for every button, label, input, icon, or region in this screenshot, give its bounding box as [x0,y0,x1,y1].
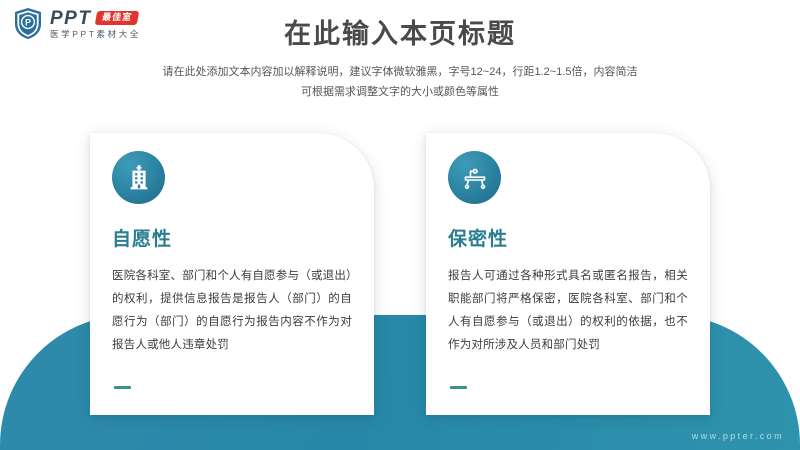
hospital-building-icon [112,151,165,204]
card-container: 自愿性 医院各科室、部门和个人有自愿参与（或退出）的权利，提供信息报告是报告人（… [90,133,710,415]
footer-url: www.ppter.com [692,431,784,441]
card-accent-dash [114,386,131,389]
card-title: 保密性 [448,230,688,251]
card-voluntariness[interactable]: 自愿性 医院各科室、部门和个人有自愿参与（或退出）的权利，提供信息报告是报告人（… [90,133,374,415]
page-subtitle: 请在此处添加文本内容加以解释说明，建议字体微软雅黑，字号12~24，行距1.2~… [0,62,800,103]
hospital-stretcher-icon [448,151,501,204]
card-confidentiality[interactable]: 保密性 报告人可通过各种形式具名或匿名报告，相关职能部门将严格保密，医院各科室、… [426,133,710,415]
card-body: 报告人可通过各种形式具名或匿名报告，相关职能部门将严格保密，医院各科室、部门和个… [448,265,688,357]
page-title: 在此输入本页标题 [0,18,800,50]
subtitle-line-2: 可根据需求调整文字的大小或颜色等属性 [0,82,800,102]
slide-canvas: www.ppter.com P PPT 最佳室 医学PPT素材大全 在此输入本页… [0,0,800,450]
subtitle-line-1: 请在此处添加文本内容加以解释说明，建议字体微软雅黑，字号12~24，行距1.2~… [0,62,800,82]
card-body: 医院各科室、部门和个人有自愿参与（或退出）的权利，提供信息报告是报告人（部门）的… [112,265,352,357]
card-accent-dash [450,386,467,389]
card-title: 自愿性 [112,230,352,251]
